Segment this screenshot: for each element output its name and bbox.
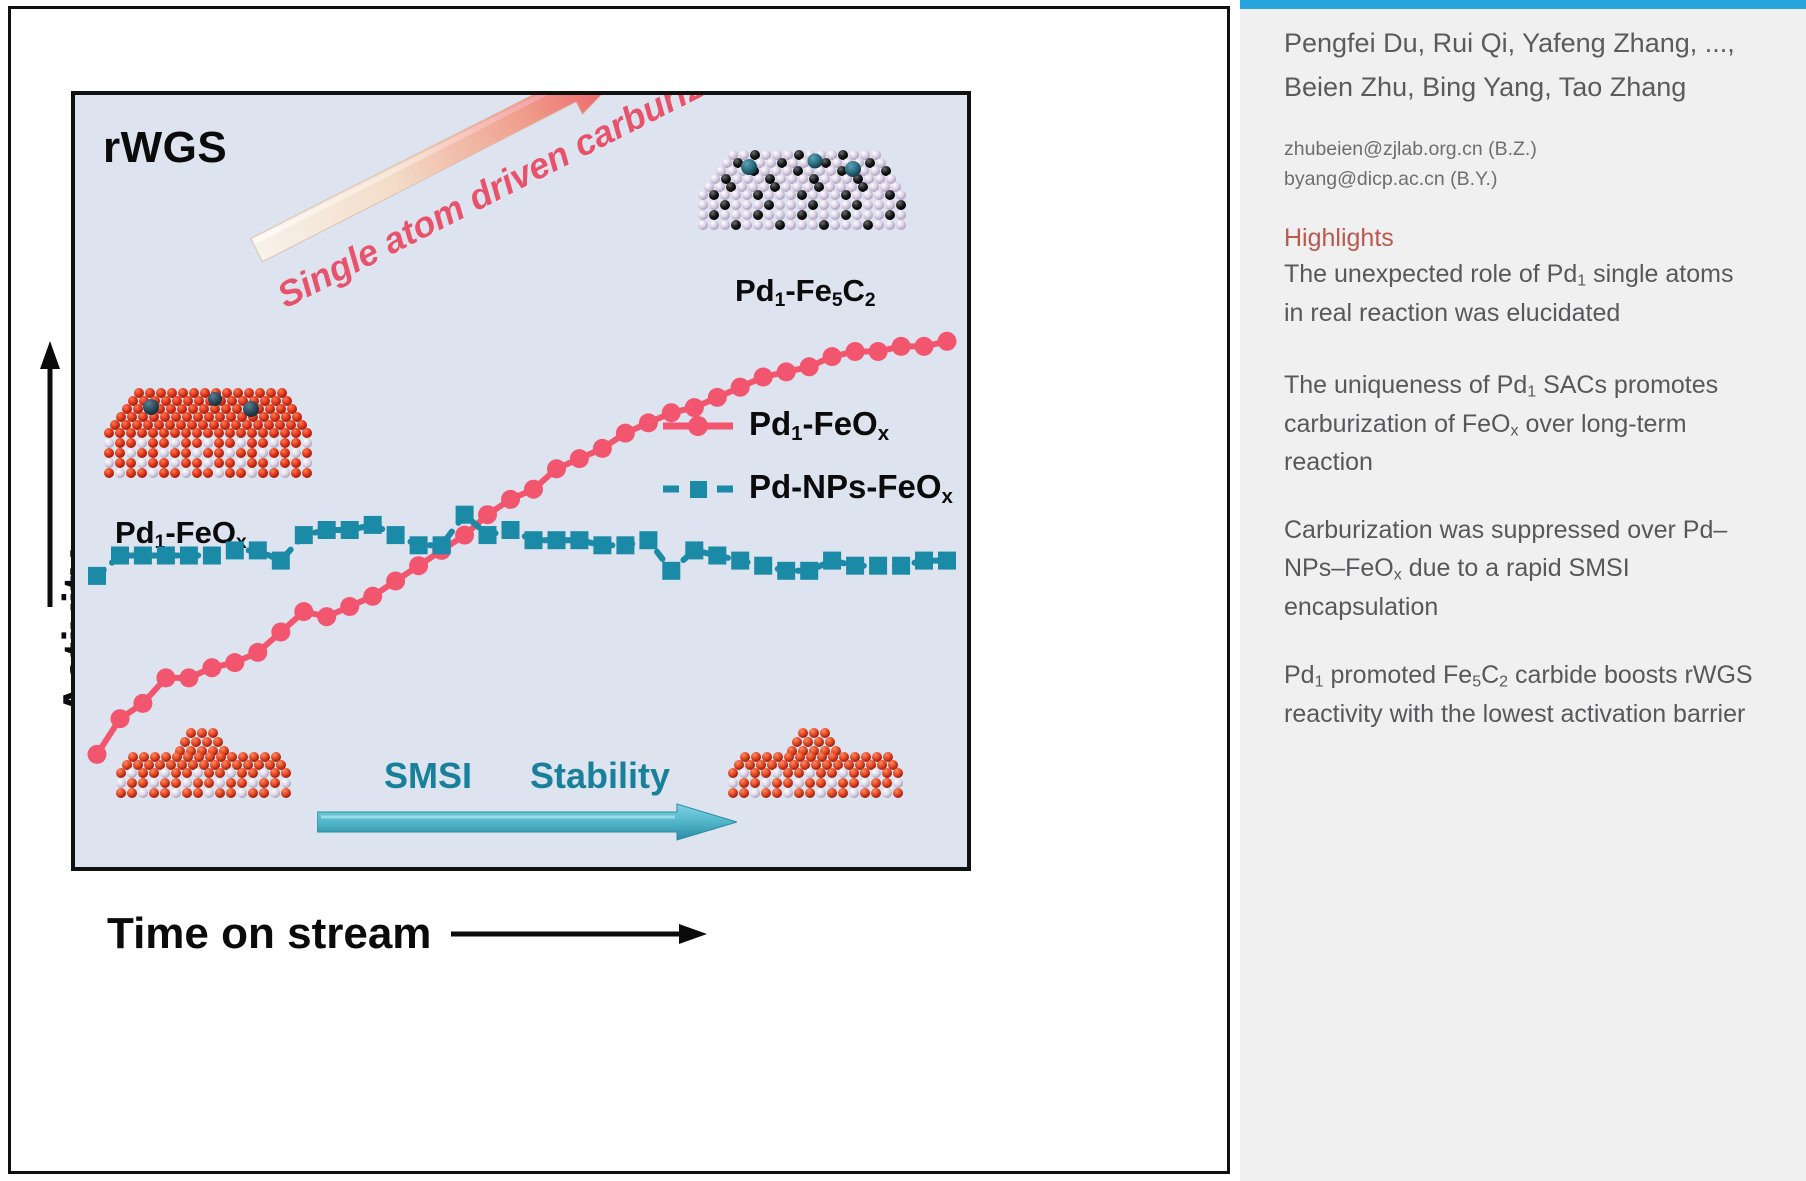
legend-marker-circle-icon [661, 413, 735, 439]
highlight-item: The unexpected role of Pd1 single atoms … [1284, 255, 1754, 332]
x-axis-group: Time on stream [107, 909, 709, 959]
x-axis-label: Time on stream [107, 909, 431, 959]
corresponding-emails: zhubeien@zjlab.org.cn (B.Z.) byang@dicp.… [1284, 135, 1754, 194]
smsi-stability-group: SMSI Stability [317, 755, 737, 841]
highlights-heading: Highlights [1284, 224, 1754, 253]
legend-label-pd1-feox: Pd1-FeOx [749, 405, 889, 446]
figure-frame: Activity rWGS [8, 6, 1230, 1174]
author-list: Pengfei Du, Rui Qi, Yafeng Zhang, ..., B… [1284, 22, 1754, 109]
stability-label: Stability [530, 755, 670, 797]
email-line[interactable]: byang@dicp.ac.cn (B.Y.) [1284, 165, 1754, 194]
smsi-label: SMSI [384, 755, 472, 797]
sidebar-accent-bar [1240, 0, 1806, 9]
plot-area: rWGS [71, 91, 971, 871]
graphical-abstract-page: Activity rWGS [0, 0, 1806, 1181]
legend-marker-square-icon [661, 476, 735, 502]
highlight-item: Pd1 promoted Fe5C2 carbide boosts rWGS r… [1284, 656, 1754, 733]
structure-pd-nanoparticle-encapsulated [715, 707, 930, 817]
email-line[interactable]: zhubeien@zjlab.org.cn (B.Z.) [1284, 135, 1754, 164]
highlight-item: The uniqueness of Pd1 SACs promotes carb… [1284, 366, 1754, 482]
highlights-sidebar: Pengfei Du, Rui Qi, Yafeng Zhang, ..., B… [1240, 0, 1806, 1181]
highlight-item: Carburization was suppressed over Pd–NPs… [1284, 511, 1754, 626]
x-axis-arrow-icon [449, 923, 709, 945]
legend-label-pd-nps-feox: Pd-NPs-FeOx [749, 468, 953, 509]
legend-item-pd-nps-feox: Pd-NPs-FeOx [661, 468, 953, 509]
graphical-abstract-panel: Activity rWGS [0, 0, 1240, 1181]
smsi-arrow-icon [317, 803, 737, 841]
chart-legend: Pd1-FeOx Pd-NPs-FeOx [661, 405, 953, 531]
legend-item-pd1-feox: Pd1-FeOx [661, 405, 953, 446]
structure-pd-nanoparticle-fresh [103, 707, 318, 817]
